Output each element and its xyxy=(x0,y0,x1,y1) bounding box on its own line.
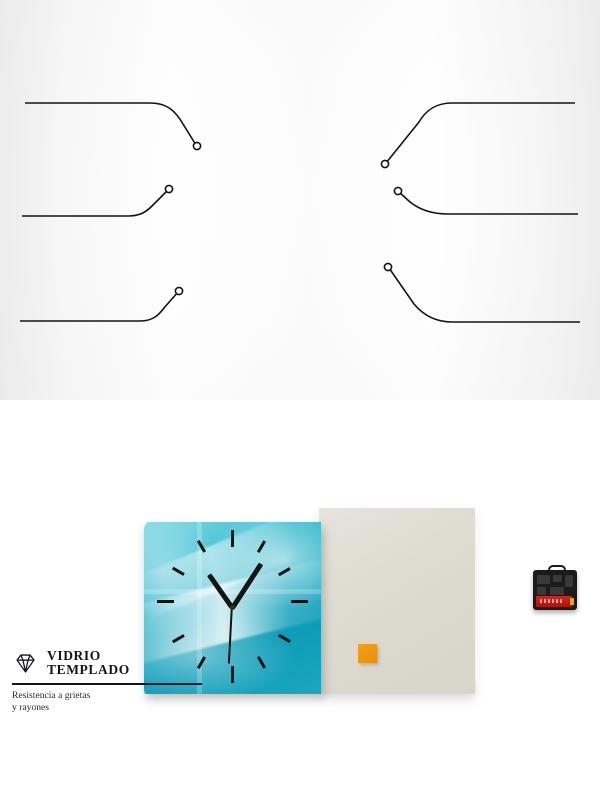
quartz-movement xyxy=(533,570,577,610)
connector-vidrio-templado xyxy=(25,103,196,145)
connector-asidero xyxy=(386,103,575,163)
connector-dot-espaciador xyxy=(384,263,391,270)
tick-12 xyxy=(231,530,234,547)
feature-rule xyxy=(12,683,202,685)
connector-lines xyxy=(0,0,600,400)
movement-hanger-icon xyxy=(548,565,566,575)
movement-slot-e xyxy=(550,587,564,595)
connector-dot-impresion xyxy=(165,185,172,192)
foam-spacer-sample xyxy=(358,644,377,663)
battery-label xyxy=(540,599,562,603)
clock-back-panel xyxy=(319,508,475,694)
connector-dot-bordes xyxy=(175,287,182,294)
movement-slot-b xyxy=(553,575,562,582)
connector-dot-vidrio-templado xyxy=(193,142,200,149)
diamond-icon xyxy=(12,650,39,677)
connector-espaciador xyxy=(389,268,580,322)
connector-impresion xyxy=(22,190,168,216)
movement-slot-c xyxy=(565,575,573,587)
movement-slot-d xyxy=(537,587,546,595)
infographic-canvas: VIDRIO TEMPLADO Resistencia a grietas y … xyxy=(0,0,600,400)
feature-subtitle: Resistencia a grietas y rayones xyxy=(12,690,202,715)
feature-title-line1: VIDRIO xyxy=(47,649,130,663)
connector-bordes xyxy=(20,292,178,321)
movement-slot-a xyxy=(537,575,550,584)
connector-mecanismo xyxy=(399,192,578,214)
connector-dot-mecanismo xyxy=(394,187,401,194)
battery-terminal xyxy=(570,598,574,605)
battery xyxy=(536,596,572,607)
tick-6 xyxy=(231,666,234,683)
tick-3 xyxy=(291,600,308,603)
feature-title-line2: TEMPLADO xyxy=(47,663,130,677)
connector-dot-asidero xyxy=(381,160,388,167)
feature-vidrio-templado: VIDRIO TEMPLADO Resistencia a grietas y … xyxy=(12,649,202,714)
hand-hub xyxy=(230,605,235,610)
tick-9 xyxy=(157,600,174,603)
